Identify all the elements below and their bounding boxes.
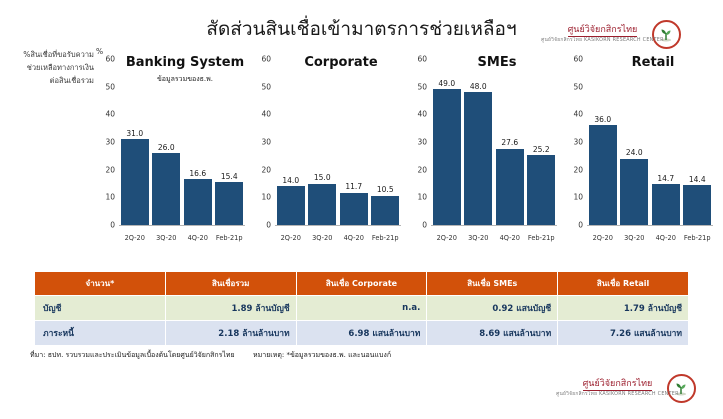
table-cell: 6.98 แสนล้านบาท <box>296 321 427 346</box>
chart-2-ytick: 10 <box>407 193 427 202</box>
brand-logo-english-label: ศูนย์วิจัยกสิกรไทย KASIKORN RESEARCH CEN… <box>541 38 664 43</box>
sprout-in-circle-icon <box>667 374 696 403</box>
bar-value-label: 15.4 <box>221 172 238 181</box>
brand-logo-bottom: ศูนย์วิจัยกสิกรไทย ศูนย์วิจัยกสิกรไทย KA… <box>572 374 696 403</box>
bar <box>184 179 212 225</box>
y-axis-caption: %สินเชื่อที่ขอรับความช่วยเหลือทางการเงิน… <box>22 48 94 88</box>
brand-logo-bottom-thai-label: ศูนย์วิจัยกสิกรไทย <box>583 380 653 391</box>
bar <box>527 155 555 225</box>
chart-0-ytick: 40 <box>95 110 115 119</box>
chart-3-ytick: 50 <box>563 82 583 91</box>
bar <box>152 153 180 225</box>
bar-value-label: 24.0 <box>626 148 643 157</box>
x-axis-tick-label: Feb-21p <box>215 234 243 242</box>
bar <box>340 193 368 225</box>
chart-3-plot: 36.024.014.714.4 0102030405060 <box>587 59 713 226</box>
x-axis-tick-label: 4Q-20 <box>496 234 524 242</box>
x-axis-tick-label: 3Q-20 <box>152 234 180 242</box>
bar-column: 10.5 <box>371 59 399 225</box>
chart-retail: Retail 36.024.014.714.4 0102030405060 2Q… <box>561 47 717 252</box>
chart-1-ytick: 10 <box>251 193 271 202</box>
bar <box>464 92 492 225</box>
chart-1-plot: 14.015.011.710.5 0102030405060 <box>275 59 401 226</box>
chart-0-ytick: 60 <box>95 55 115 64</box>
chart-2-ytick: 50 <box>407 82 427 91</box>
bar <box>433 89 461 225</box>
table-header-cell-2: สินเชื่อ Corporate <box>296 272 427 296</box>
chart-0-ytick: 50 <box>95 82 115 91</box>
bar-value-label: 15.0 <box>314 173 331 182</box>
bar <box>496 149 524 225</box>
footnote-note: หมายเหตุ: *ข้อมูลรวมของธ.พ. และนอนแบงก์ <box>253 351 391 359</box>
chart-3-ytick: 60 <box>563 55 583 64</box>
bar <box>277 186 305 225</box>
x-axis-tick-label: 4Q-20 <box>184 234 212 242</box>
bar-column: 27.6 <box>496 59 524 225</box>
chart-1-ytick: 30 <box>251 138 271 147</box>
charts-row: % Banking System ข้อมูลรวมของธ.พ. 31.026… <box>93 47 718 252</box>
chart-1-ytick: 40 <box>251 110 271 119</box>
chart-corporate: Corporate 14.015.011.710.5 0102030405060… <box>249 47 405 252</box>
x-axis-tick-label: 3Q-20 <box>308 234 336 242</box>
bar-value-label: 31.0 <box>126 129 143 138</box>
bar-column: 14.4 <box>683 59 711 225</box>
x-axis-tick-label: 3Q-20 <box>464 234 492 242</box>
chart-1-ytick: 0 <box>251 221 271 230</box>
x-axis-tick-label: 2Q-20 <box>433 234 461 242</box>
bar-value-label: 36.0 <box>594 115 611 124</box>
x-axis-tick-label: Feb-21p <box>527 234 555 242</box>
bar-value-label: 48.0 <box>470 82 487 91</box>
bar-column: 24.0 <box>620 59 648 225</box>
bar-value-label: 26.0 <box>158 143 175 152</box>
bar <box>308 184 336 226</box>
bar-value-label: 14.0 <box>282 176 299 185</box>
chart-2-ytick: 60 <box>407 55 427 64</box>
bar-column: 49.0 <box>433 59 461 225</box>
chart-2-ytick: 20 <box>407 165 427 174</box>
bar-column: 16.6 <box>184 59 212 225</box>
bar <box>371 196 399 225</box>
bar-column: 48.0 <box>464 59 492 225</box>
bar-value-label: 11.7 <box>345 182 362 191</box>
chart-1-ytick: 50 <box>251 82 271 91</box>
table-header-cell-0: จำนวน* <box>35 272 166 296</box>
bar-column: 14.7 <box>652 59 680 225</box>
bar-column: 15.0 <box>308 59 336 225</box>
x-axis-tick-label: 3Q-20 <box>620 234 648 242</box>
chart-0-plot: 31.026.016.615.4 0102030405060 <box>119 59 245 226</box>
brand-logo-bottom-english-label: ศูนย์วิจัยกสิกรไทย KASIKORN RESEARCH CEN… <box>556 392 679 397</box>
bar-value-label: 10.5 <box>377 185 394 194</box>
chart-0-ytick: 30 <box>95 138 115 147</box>
chart-3-bars: 36.024.014.714.4 <box>587 59 713 225</box>
chart-0-bars: 31.026.016.615.4 <box>119 59 245 225</box>
chart-smes: SMEs 49.048.027.625.2 0102030405060 2Q-2… <box>405 47 561 252</box>
brand-logo-bottom-text: ศูนย์วิจัยกสิกรไทย ศูนย์วิจัยกสิกรไทย KA… <box>572 380 663 396</box>
chart-3-ytick: 10 <box>563 193 583 202</box>
bar <box>683 185 711 225</box>
chart-2-x-labels: 2Q-203Q-204Q-20Feb-21p <box>431 234 557 242</box>
table-cell: 8.69 แสนล้านบาท <box>427 321 558 346</box>
chart-banking-system: % Banking System ข้อมูลรวมของธ.พ. 31.026… <box>93 47 249 252</box>
chart-2-ytick: 40 <box>407 110 427 119</box>
table-header-cell-4: สินเชื่อ Retail <box>558 272 689 296</box>
chart-3-ytick: 40 <box>563 110 583 119</box>
table-header-cell-1: สินเชื่อรวม <box>165 272 296 296</box>
footnote-source: ที่มา: ธปท. รวบรวมและประเมินข้อมูลเบื้อง… <box>30 351 235 359</box>
chart-2-bars: 49.048.027.625.2 <box>431 59 557 225</box>
table-row-header: ภาระหนี้ <box>35 321 166 346</box>
bar <box>652 184 680 225</box>
chart-1-bars: 14.015.011.710.5 <box>275 59 401 225</box>
bar-column: 26.0 <box>152 59 180 225</box>
bar-column: 31.0 <box>121 59 149 225</box>
table-cell: 1.89 ล้านบัญชี <box>165 296 296 321</box>
summary-table: จำนวน*สินเชื่อรวมสินเชื่อ Corporateสินเช… <box>34 271 689 346</box>
table-cell: 1.79 ล้านบัญชี <box>558 296 689 321</box>
bar-value-label: 14.7 <box>657 174 674 183</box>
chart-2-plot: 49.048.027.625.2 0102030405060 <box>431 59 557 226</box>
x-axis-tick-label: Feb-21p <box>371 234 399 242</box>
chart-0-ytick: 0 <box>95 221 115 230</box>
bar-column: 15.4 <box>215 59 243 225</box>
brand-logo-text: ศูนย์วิจัยกสิกรไทย ศูนย์วิจัยกสิกรไทย KA… <box>557 26 648 42</box>
table-header-cell-3: สินเชื่อ SMEs <box>427 272 558 296</box>
table-header-row: จำนวน*สินเชื่อรวมสินเชื่อ Corporateสินเช… <box>35 272 689 296</box>
bar <box>215 182 243 225</box>
bar-value-label: 14.4 <box>689 175 706 184</box>
sprout-in-circle-icon <box>652 20 681 49</box>
bar <box>121 139 149 225</box>
bar-column: 25.2 <box>527 59 555 225</box>
chart-1-ytick: 20 <box>251 165 271 174</box>
bar-value-label: 27.6 <box>501 138 518 147</box>
chart-3-ytick: 30 <box>563 138 583 147</box>
table-row-header: บัญชี <box>35 296 166 321</box>
x-axis-tick-label: 2Q-20 <box>277 234 305 242</box>
chart-3-ytick: 0 <box>563 221 583 230</box>
x-axis-tick-label: 4Q-20 <box>340 234 368 242</box>
bar-column: 11.7 <box>340 59 368 225</box>
chart-0-ytick: 10 <box>95 193 115 202</box>
bar <box>620 159 648 225</box>
table-cell: 0.92 แสนบัญชี <box>427 296 558 321</box>
bar <box>589 125 617 225</box>
x-axis-tick-label: 2Q-20 <box>589 234 617 242</box>
chart-1-x-labels: 2Q-203Q-204Q-20Feb-21p <box>275 234 401 242</box>
chart-3-x-labels: 2Q-203Q-204Q-20Feb-21p <box>587 234 713 242</box>
footnote: ที่มา: ธปท. รวบรวมและประเมินข้อมูลเบื้อง… <box>30 350 391 361</box>
bar-column: 36.0 <box>589 59 617 225</box>
bar-value-label: 16.6 <box>189 169 206 178</box>
chart-0-ytick: 20 <box>95 165 115 174</box>
table-cell: 2.18 ล้านล้านบาท <box>165 321 296 346</box>
chart-1-ytick: 60 <box>251 55 271 64</box>
bar-value-label: 25.2 <box>533 145 550 154</box>
bar-value-label: 49.0 <box>438 79 455 88</box>
x-axis-tick-label: 2Q-20 <box>121 234 149 242</box>
chart-3-ytick: 20 <box>563 165 583 174</box>
chart-0-x-labels: 2Q-203Q-204Q-20Feb-21p <box>119 234 245 242</box>
bar-column: 14.0 <box>277 59 305 225</box>
brand-logo-thai-label: ศูนย์วิจัยกสิกรไทย <box>568 26 638 37</box>
table-cell: n.a. <box>296 296 427 321</box>
table-cell: 7.26 แสนล้านบาท <box>558 321 689 346</box>
chart-2-ytick: 0 <box>407 221 427 230</box>
chart-2-ytick: 30 <box>407 138 427 147</box>
table-row: ภาระหนี้2.18 ล้านล้านบาท6.98 แสนล้านบาท8… <box>35 321 689 346</box>
x-axis-tick-label: 4Q-20 <box>652 234 680 242</box>
x-axis-tick-label: Feb-21p <box>683 234 711 242</box>
brand-logo-top: ศูนย์วิจัยกสิกรไทย ศูนย์วิจัยกสิกรไทย KA… <box>557 20 681 49</box>
table-row: บัญชี1.89 ล้านบัญชีn.a.0.92 แสนบัญชี1.79… <box>35 296 689 321</box>
